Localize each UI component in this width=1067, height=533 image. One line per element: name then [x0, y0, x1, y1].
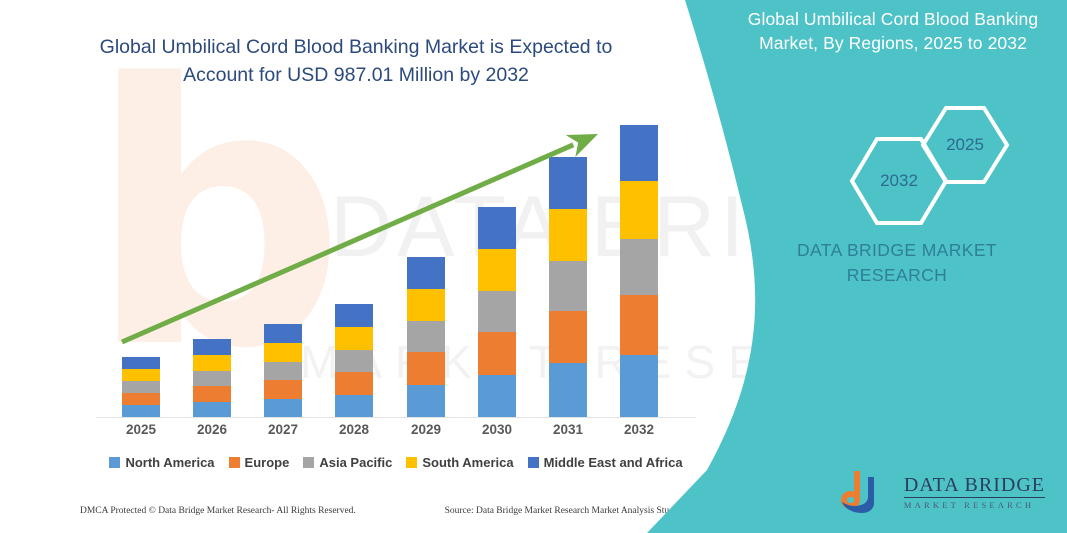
bar-segment-2029-europe[interactable]: [407, 352, 445, 385]
bar-segment-2030-asia-pacific[interactable]: [478, 291, 516, 332]
legend-label: North America: [125, 455, 214, 470]
footer-source: Source: Data Bridge Market Research Mark…: [445, 506, 700, 516]
legend-swatch-icon: [229, 457, 240, 468]
x-axis-label-2029: 2029: [396, 422, 456, 437]
bar-segment-2031-south-america[interactable]: [549, 209, 587, 261]
hexagon-label-2032: 2032: [880, 171, 918, 191]
legend-item-south-america[interactable]: South America: [406, 455, 513, 470]
bar-segment-2027-south-america[interactable]: [264, 343, 302, 362]
bar-segment-2030-south-america[interactable]: [478, 249, 516, 291]
chart-legend: North AmericaEuropeAsia PacificSouth Ame…: [96, 455, 696, 470]
infographic-canvas: b DATA BRIDGE MARKET RESEARCH Global Umb…: [0, 0, 1067, 533]
bar-segment-2028-asia-pacific[interactable]: [335, 350, 373, 372]
bar-segment-2032-north-america[interactable]: [620, 355, 658, 417]
bar-segment-2025-europe[interactable]: [122, 393, 160, 405]
bar-segment-2026-north-america[interactable]: [193, 402, 231, 417]
x-axis-label-2026: 2026: [182, 422, 242, 437]
logo-wordmark: DATA BRIDGE MARKET RESEARCH: [904, 475, 1045, 510]
legend-swatch-icon: [406, 457, 417, 468]
hexagon-badge-2025: 2025: [919, 104, 1011, 186]
bar-segment-2027-asia-pacific[interactable]: [264, 362, 302, 380]
x-axis-label-2028: 2028: [324, 422, 384, 437]
bar-segment-2029-middle-east-and-africa[interactable]: [407, 257, 445, 289]
bar-segment-2030-north-america[interactable]: [478, 375, 516, 417]
legend-item-north-america[interactable]: North America: [109, 455, 214, 470]
x-axis-line: [96, 417, 696, 418]
bar-segment-2032-south-america[interactable]: [620, 181, 658, 239]
bar-segment-2027-middle-east-and-africa[interactable]: [264, 324, 302, 343]
legend-label: Middle East and Africa: [544, 455, 683, 470]
bar-segment-2026-europe[interactable]: [193, 386, 231, 402]
legend-swatch-icon: [303, 457, 314, 468]
bar-segment-2027-europe[interactable]: [264, 380, 302, 399]
bar-2030[interactable]: [478, 207, 516, 417]
bar-segment-2031-north-america[interactable]: [549, 363, 587, 417]
bar-segment-2025-south-america[interactable]: [122, 369, 160, 381]
hexagon-label-2025: 2025: [946, 135, 984, 155]
bar-segment-2030-europe[interactable]: [478, 332, 516, 375]
footer-copyright: DMCA Protected © Data Bridge Market Rese…: [80, 506, 356, 516]
bar-2027[interactable]: [264, 324, 302, 417]
bar-segment-2026-south-america[interactable]: [193, 355, 231, 371]
bar-2026[interactable]: [193, 339, 231, 417]
bar-segment-2031-europe[interactable]: [549, 311, 587, 363]
x-axis-label-2030: 2030: [467, 422, 527, 437]
bar-2032[interactable]: [620, 125, 658, 417]
bar-segment-2032-middle-east-and-africa[interactable]: [620, 125, 658, 181]
data-bridge-logo: DATA BRIDGE MARKET RESEARCH: [840, 469, 1045, 515]
legend-item-middle-east-and-africa[interactable]: Middle East and Africa: [528, 455, 683, 470]
legend-swatch-icon: [109, 457, 120, 468]
bar-segment-2028-middle-east-and-africa[interactable]: [335, 304, 373, 327]
bar-2031[interactable]: [549, 157, 587, 417]
chart-plot-area: [96, 124, 696, 418]
bar-segment-2025-asia-pacific[interactable]: [122, 381, 160, 393]
legend-label: Asia Pacific: [319, 455, 392, 470]
bar-segment-2030-middle-east-and-africa[interactable]: [478, 207, 516, 249]
footer: DMCA Protected © Data Bridge Market Rese…: [80, 506, 700, 516]
legend-item-asia-pacific[interactable]: Asia Pacific: [303, 455, 392, 470]
x-axis-label-2025: 2025: [111, 422, 171, 437]
bar-segment-2032-asia-pacific[interactable]: [620, 239, 658, 295]
panel-brand-text: DATA BRIDGE MARKET RESEARCH: [767, 238, 1027, 289]
stacked-bar-chart: [96, 118, 696, 418]
bar-segment-2027-north-america[interactable]: [264, 399, 302, 417]
bar-segment-2026-asia-pacific[interactable]: [193, 371, 231, 386]
legend-label: South America: [422, 455, 513, 470]
bar-segment-2029-south-america[interactable]: [407, 289, 445, 321]
x-axis-label-2027: 2027: [253, 422, 313, 437]
logo-line2: MARKET RESEARCH: [904, 501, 1045, 510]
bar-segment-2029-asia-pacific[interactable]: [407, 321, 445, 352]
bar-segment-2028-north-america[interactable]: [335, 395, 373, 417]
panel-title: Global Umbilical Cord Blood Banking Mark…: [733, 8, 1053, 55]
bar-segment-2026-middle-east-and-africa[interactable]: [193, 339, 231, 355]
x-axis-label-2032: 2032: [609, 422, 669, 437]
bar-segment-2028-south-america[interactable]: [335, 327, 373, 350]
bar-segment-2032-europe[interactable]: [620, 295, 658, 355]
bar-segment-2029-north-america[interactable]: [407, 385, 445, 417]
bar-2025[interactable]: [122, 357, 160, 417]
legend-item-europe[interactable]: Europe: [229, 455, 290, 470]
bar-segment-2031-middle-east-and-africa[interactable]: [549, 157, 587, 209]
page-title: Global Umbilical Cord Blood Banking Mark…: [96, 34, 616, 89]
legend-label: Europe: [245, 455, 290, 470]
hexagon-badges: 2032 2025: [839, 104, 1019, 214]
bar-segment-2031-asia-pacific[interactable]: [549, 261, 587, 311]
logo-mark-icon: [840, 469, 894, 515]
bar-segment-2028-europe[interactable]: [335, 372, 373, 395]
bar-segment-2025-middle-east-and-africa[interactable]: [122, 357, 160, 369]
logo-line1: DATA BRIDGE: [904, 475, 1045, 498]
bar-2029[interactable]: [407, 257, 445, 417]
bar-2028[interactable]: [335, 304, 373, 417]
bar-segment-2025-north-america[interactable]: [122, 405, 160, 417]
x-axis-labels: 20252026202720282029203020312032: [96, 422, 696, 442]
x-axis-label-2031: 2031: [538, 422, 598, 437]
legend-swatch-icon: [528, 457, 539, 468]
